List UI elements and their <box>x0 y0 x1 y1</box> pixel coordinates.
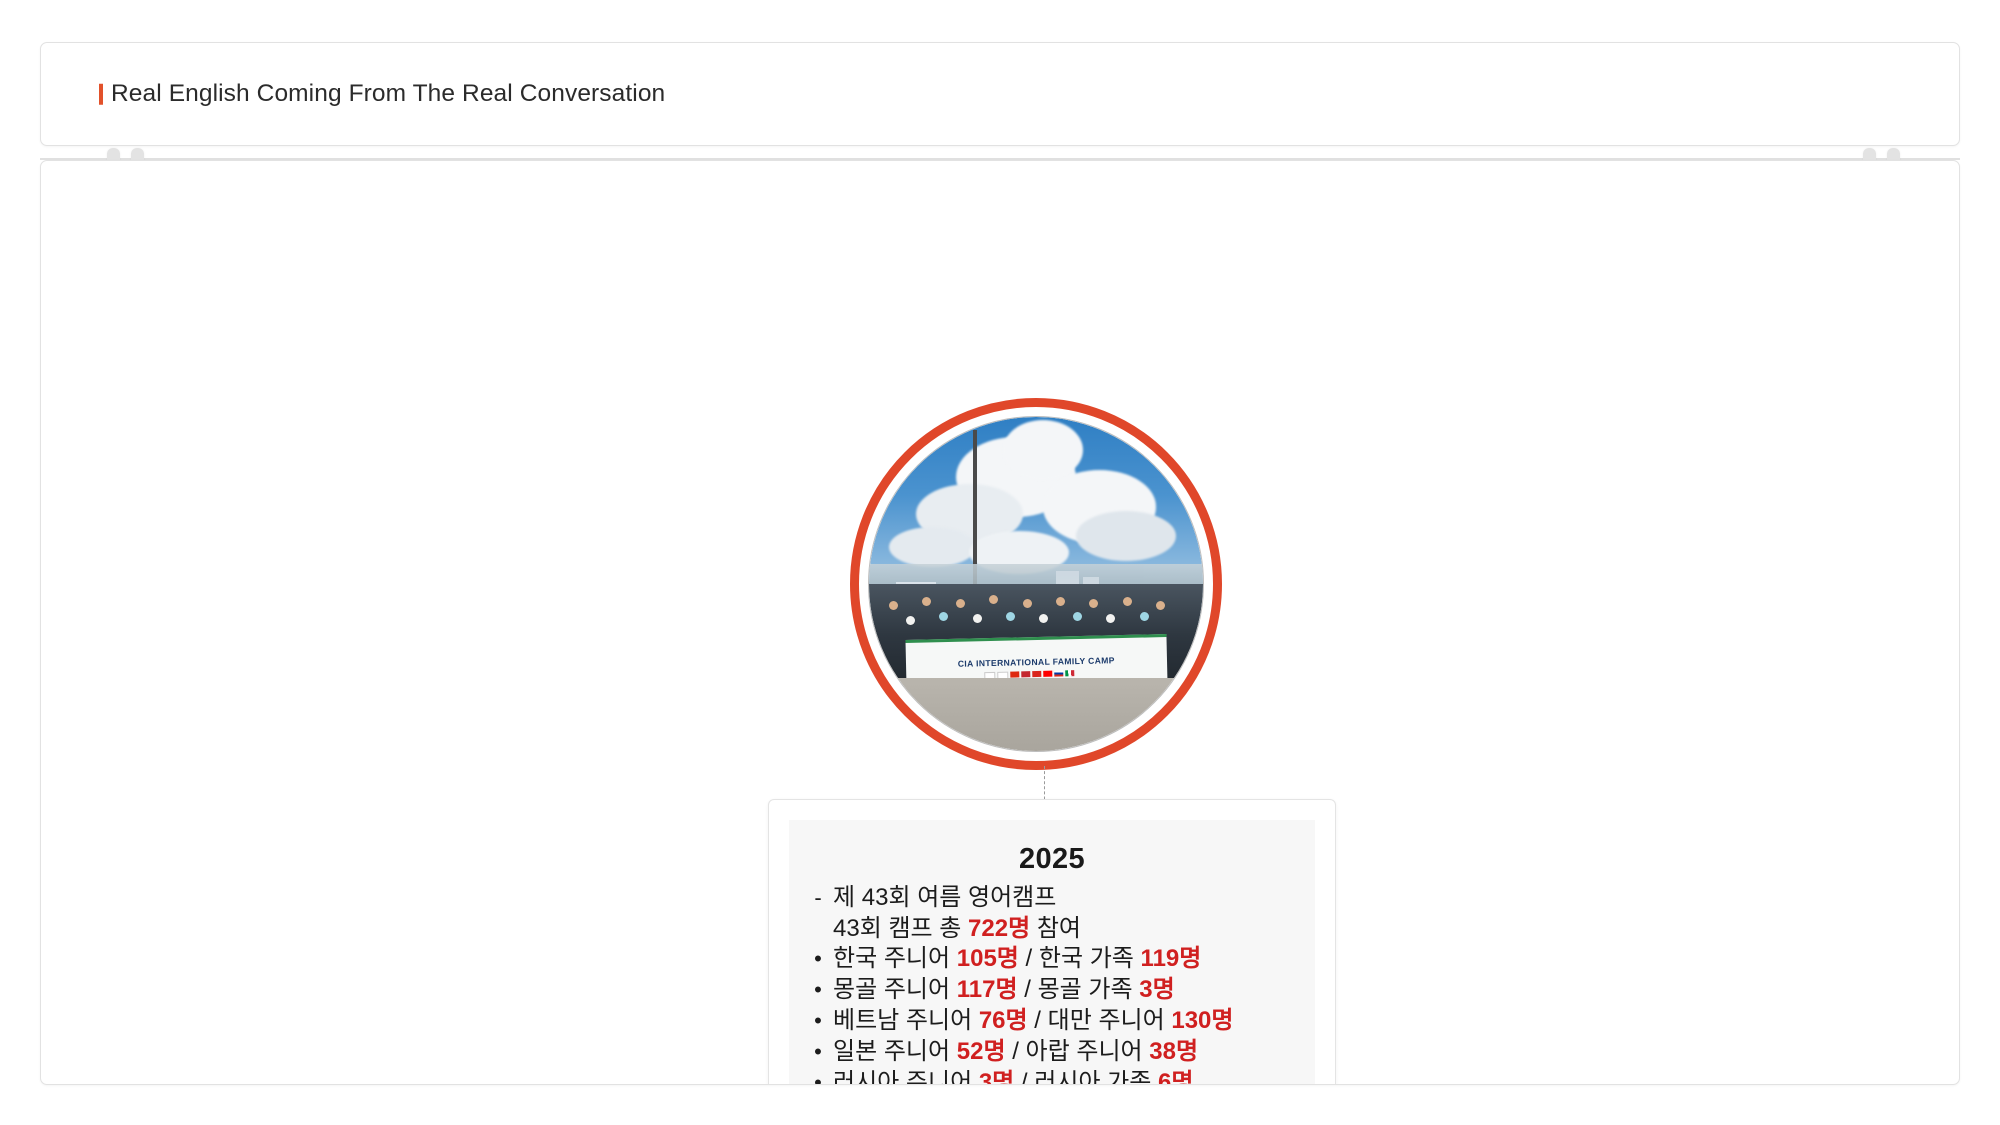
photo-inner-ring: CIA INTERNATIONAL FAMILY CAMP <box>868 416 1204 752</box>
accent-bar-icon <box>99 84 103 105</box>
bullet-marker-icon: • <box>803 1070 833 1085</box>
label-text: / 아랍 주니어 <box>1006 1038 1150 1065</box>
count-value: 38명 <box>1149 1038 1198 1065</box>
page-title: Real English Coming From The Real Conver… <box>111 82 665 107</box>
label-text: 베트남 주니어 <box>833 1007 979 1034</box>
stats-list-item: •한국 주니어 105명 / 한국 가족 119명 <box>803 945 1301 974</box>
header-panel: Real English Coming From The Real Conver… <box>40 42 1960 146</box>
count-value: 6명 <box>1158 1069 1193 1085</box>
stats-list-item: •몽골 주니어 117명 / 몽골 가족 3명 <box>803 976 1301 1005</box>
content-panel: CIA INTERNATIONAL FAMILY CAMP <box>40 160 1960 1085</box>
count-value: 117명 <box>957 976 1018 1003</box>
stats-list-item-text: 일본 주니어 52명 / 아랍 주니어 38명 <box>833 1038 1301 1067</box>
cloud-shape <box>1076 511 1176 561</box>
label-text: / 한국 가족 <box>1019 945 1141 972</box>
stats-list-item-text: 제 43회 여름 영어캠프 <box>833 884 1301 913</box>
count-value: 130명 <box>1171 1007 1233 1034</box>
stats-list-item-text: 43회 캠프 총 722명 참여 <box>833 915 1301 944</box>
stats-list-item: 43회 캠프 총 722명 참여 <box>803 915 1301 944</box>
stats-list-item-text: 한국 주니어 105명 / 한국 가족 119명 <box>833 945 1301 974</box>
label-text: / 러시아 가족 <box>1014 1069 1158 1085</box>
bullet-marker-icon: • <box>803 946 833 972</box>
stats-list-item-text: 몽골 주니어 117명 / 몽골 가족 3명 <box>833 976 1301 1005</box>
stats-list-item-text: 러시아 주니어 3명 / 러시아 가족 6명 <box>833 1069 1301 1085</box>
header-title-wrap: Real English Coming From The Real Conver… <box>99 82 665 107</box>
dash-marker-icon: - <box>803 885 833 911</box>
count-value: 105명 <box>957 945 1019 972</box>
stats-list: -제 43회 여름 영어캠프43회 캠프 총 722명 참여•한국 주니어 10… <box>803 884 1301 1085</box>
label-text: / 대만 주니어 <box>1028 1007 1172 1034</box>
label-text: 한국 주니어 <box>833 945 957 972</box>
flag-pole <box>973 430 977 584</box>
label-text: 43회 캠프 총 <box>833 915 968 942</box>
bullet-marker-icon: • <box>803 977 833 1003</box>
bullet-marker-icon: • <box>803 1039 833 1065</box>
stats-list-item: •베트남 주니어 76명 / 대만 주니어 130명 <box>803 1007 1301 1036</box>
circular-photo-frame: CIA INTERNATIONAL FAMILY CAMP <box>850 398 1222 770</box>
banner-text: CIA INTERNATIONAL FAMILY CAMP <box>957 655 1114 669</box>
year-heading: 2025 <box>803 844 1301 876</box>
stats-list-item: •러시아 주니어 3명 / 러시아 가족 6명 <box>803 1069 1301 1085</box>
label-text: 제 43회 여름 영어캠프 <box>833 884 1056 911</box>
group-photo-image: CIA INTERNATIONAL FAMILY CAMP <box>869 417 1203 751</box>
bullet-marker-icon: • <box>803 1008 833 1034</box>
photo-ground <box>869 678 1203 751</box>
cloud-shape <box>1003 420 1083 480</box>
count-value: 3명 <box>979 1069 1014 1085</box>
slide-root: Real English Coming From The Real Conver… <box>0 0 2000 1125</box>
info-card: 2025 -제 43회 여름 영어캠프43회 캠프 총 722명 참여•한국 주… <box>768 799 1336 1085</box>
stats-list-item-text: 베트남 주니어 76명 / 대만 주니어 130명 <box>833 1007 1301 1036</box>
count-value: 76명 <box>979 1007 1028 1034</box>
flag-ru-icon <box>1054 671 1063 677</box>
stats-list-item: -제 43회 여름 영어캠프 <box>803 884 1301 913</box>
label-text: 러시아 주니어 <box>833 1069 979 1085</box>
count-value: 119명 <box>1141 945 1202 972</box>
count-value: 52명 <box>957 1038 1006 1065</box>
count-value: 722명 <box>968 915 1030 942</box>
label-text: 몽골 주니어 <box>833 976 957 1003</box>
stats-list-item: •일본 주니어 52명 / 아랍 주니어 38명 <box>803 1038 1301 1067</box>
flag-it-icon <box>1065 671 1074 677</box>
count-value: 3명 <box>1139 976 1174 1003</box>
label-text: 참여 <box>1030 915 1081 942</box>
cloud-shape <box>889 527 976 567</box>
flag-tw-icon <box>1043 671 1052 677</box>
label-text: 일본 주니어 <box>833 1038 957 1065</box>
info-card-inner: 2025 -제 43회 여름 영어캠프43회 캠프 총 722명 참여•한국 주… <box>789 820 1315 1085</box>
label-text: / 몽골 가족 <box>1018 976 1140 1003</box>
